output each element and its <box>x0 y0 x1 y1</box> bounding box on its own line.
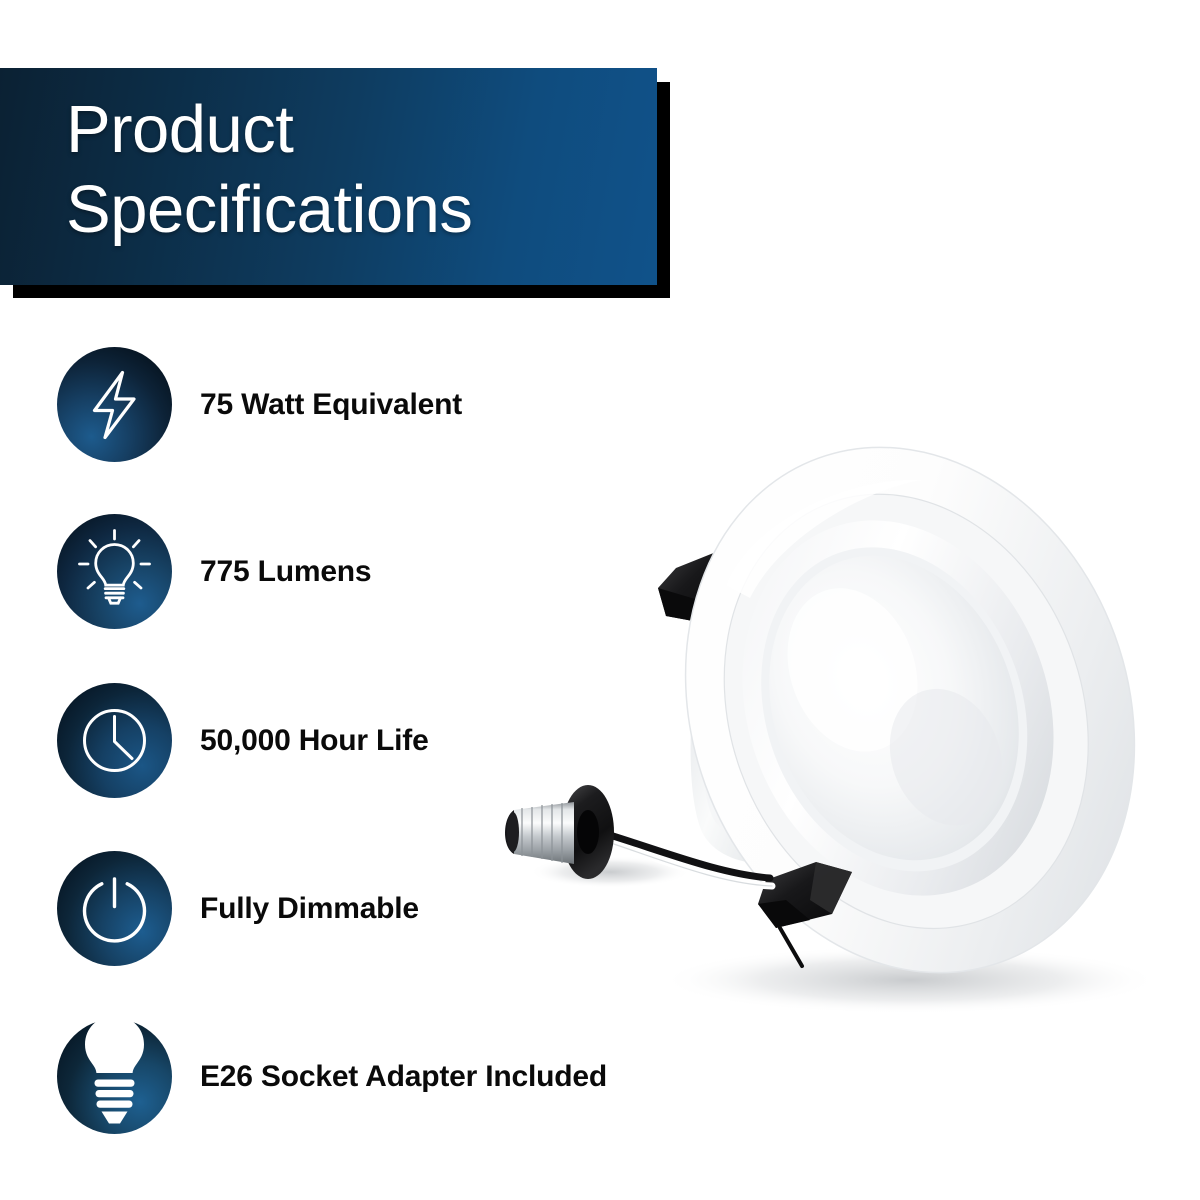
light-bulb-rays-icon <box>57 514 172 629</box>
spec-label: E26 Socket Adapter Included <box>200 1060 607 1094</box>
spec-label: 75 Watt Equivalent <box>200 388 462 422</box>
spec-item-dimmable: Fully Dimmable <box>57 851 419 966</box>
spec-item-lumens: 775 Lumens <box>57 514 371 629</box>
spec-label: Fully Dimmable <box>200 892 419 926</box>
spec-label: 50,000 Hour Life <box>200 724 429 758</box>
spec-item-watt-equivalent: 75 Watt Equivalent <box>57 347 462 462</box>
clock-icon <box>57 683 172 798</box>
bulb-socket-base-icon <box>57 1019 172 1134</box>
spec-label: 775 Lumens <box>200 555 371 589</box>
lightning-bolt-icon <box>57 347 172 462</box>
power-dimmer-icon <box>57 851 172 966</box>
product-specifications-infographic: Product Specifications 75 Watt Equivalen… <box>0 0 1200 1200</box>
product-image <box>480 380 1200 1040</box>
spec-item-hour-life: 50,000 Hour Life <box>57 683 429 798</box>
